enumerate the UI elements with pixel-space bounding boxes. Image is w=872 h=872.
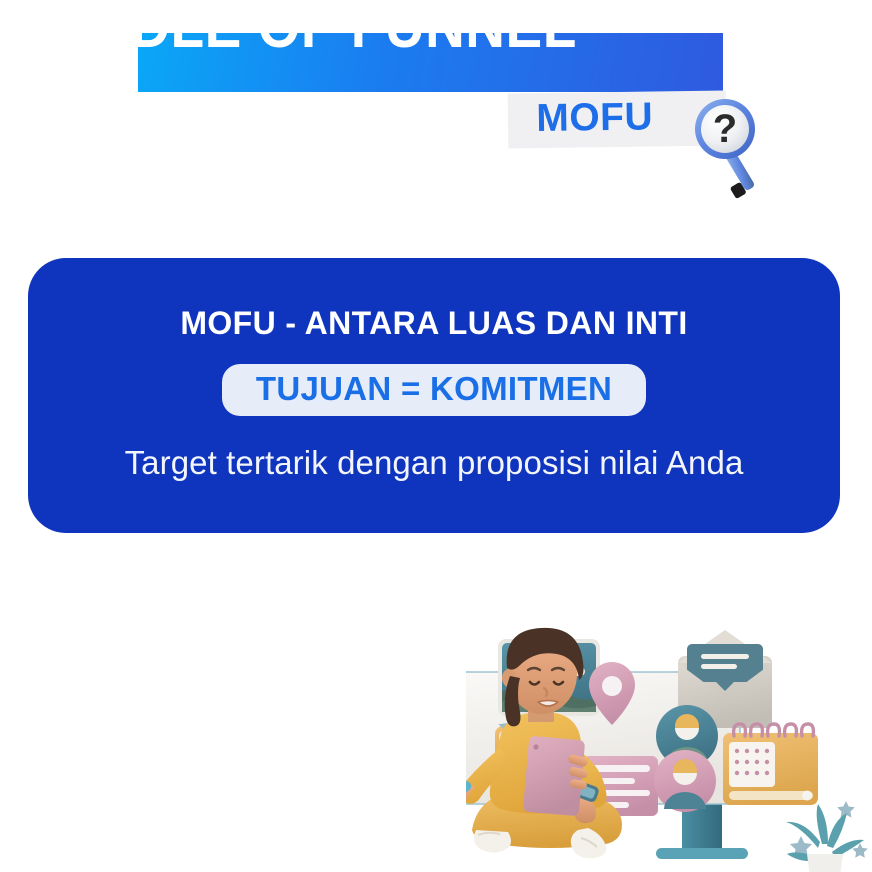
subtitle-label: MOFU (536, 95, 653, 141)
goal-pill: TUJUAN = KOMITMEN (222, 364, 646, 416)
plant-pot (807, 854, 843, 872)
monitor-stand (656, 801, 748, 859)
calendar-icon (723, 724, 818, 805)
plant-leaves (786, 804, 864, 861)
avatar-pink-icon (654, 750, 716, 812)
magnifying-glass-question-icon: ? (684, 96, 774, 201)
card-subtext: Target tertarik dengan proposisi nilai A… (125, 444, 744, 482)
header-banner: MIDDLE OF FUNNEL MOFU (0, 0, 872, 215)
plant (786, 804, 864, 872)
hero-illustration (466, 616, 872, 872)
page-title: MIDDLE OF FUNNEL (28, 0, 577, 62)
card-heading: MOFU - ANTARA LUAS DAN INTI (180, 305, 687, 342)
main-content-card: MOFU - ANTARA LUAS DAN INTI TUJUAN = KOM… (28, 258, 840, 533)
question-mark-glyph: ? (713, 107, 737, 151)
fingers (567, 753, 589, 790)
goal-pill-label: TUJUAN = KOMITMEN (256, 370, 612, 407)
